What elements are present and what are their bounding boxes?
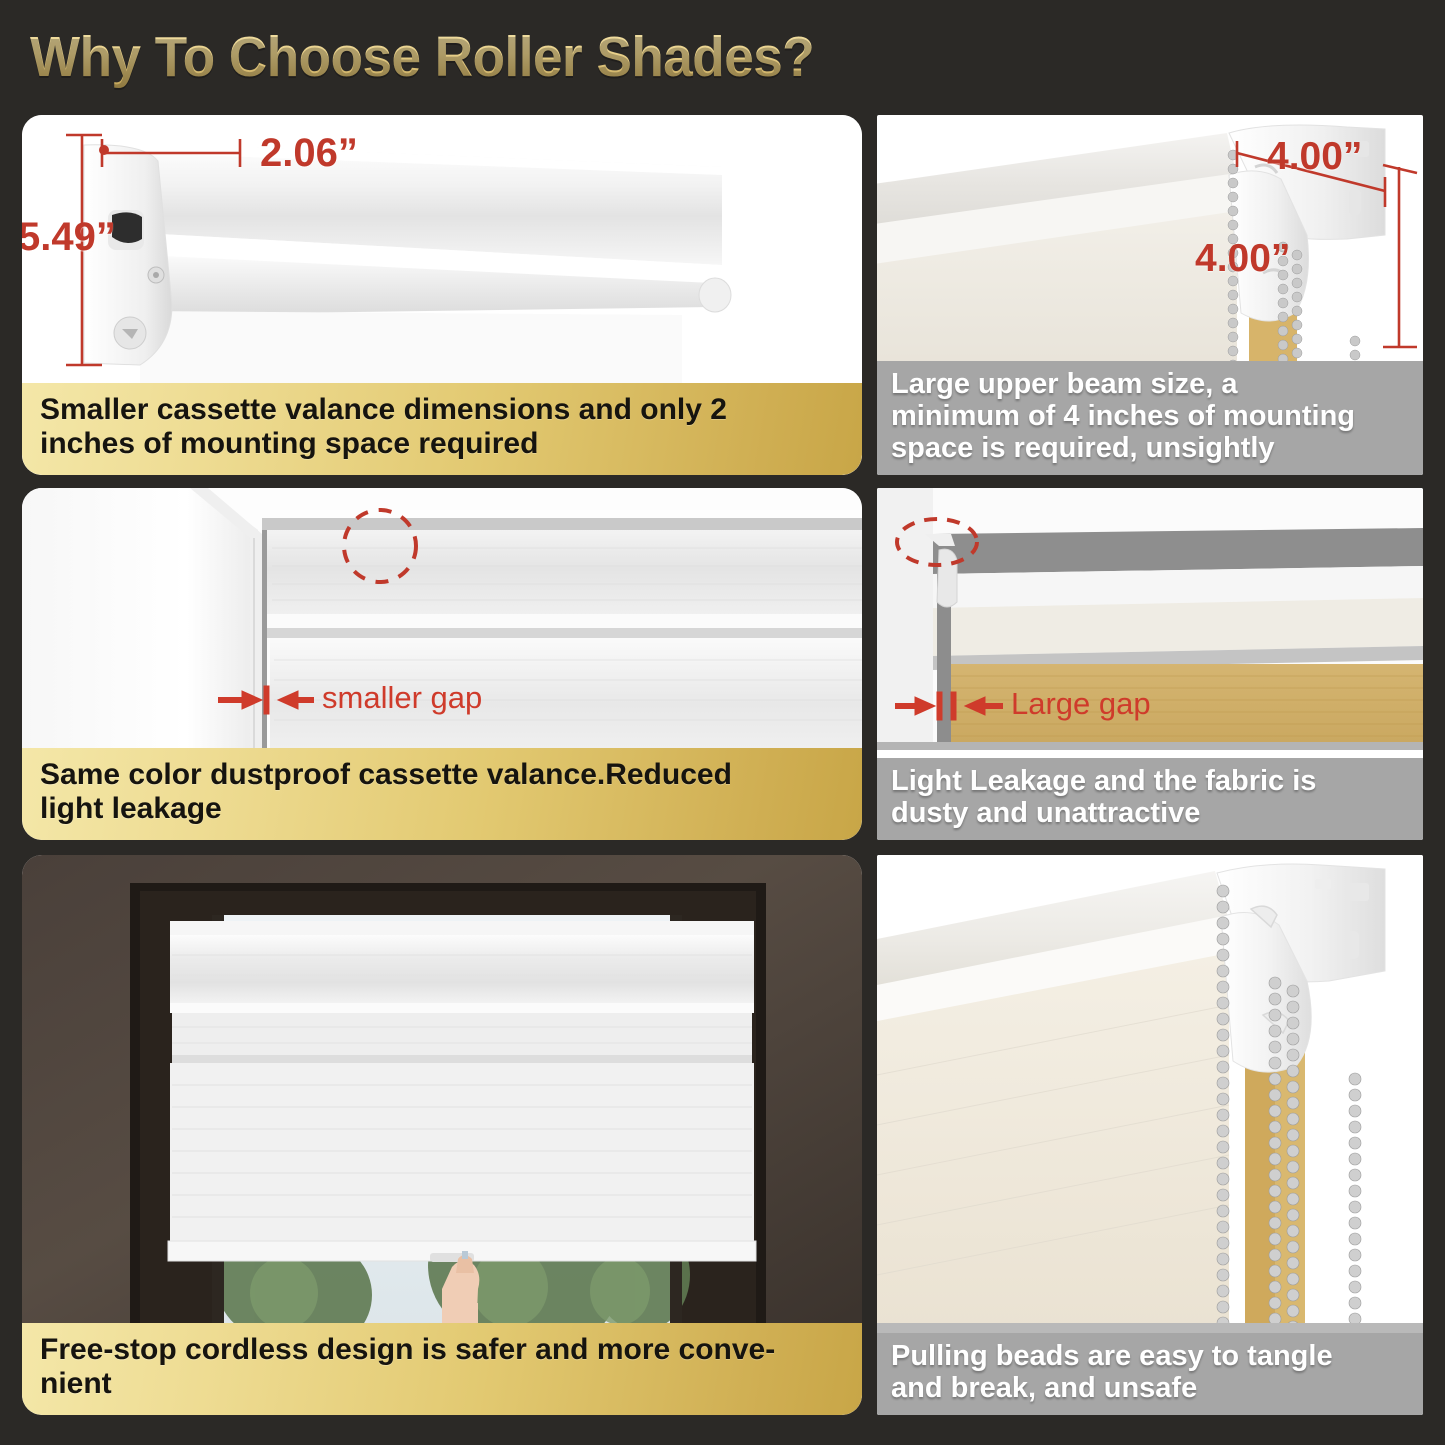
window-scene-illustration [22, 855, 862, 1333]
caption-line: Smaller cassette valance dimensions and … [40, 393, 727, 427]
panel-good-dustproof-valance: smaller gap Same color dustproof cassett… [22, 488, 862, 840]
dimension-label-width: 2.06” [260, 131, 358, 176]
caption-line: inches of mounting space required [40, 427, 727, 461]
caption-line: minimum of 4 inches of mounting [891, 401, 1355, 433]
page-title: Why To Choose Roller Shades? [30, 24, 814, 90]
gap-label-smaller: smaller gap [322, 680, 482, 716]
dimension-label-height: 5.49” [22, 215, 116, 260]
panel-bad-pull-beads: Pulling beads are easy to tangle and bre… [877, 855, 1423, 1415]
caption-bad-large-beam: Large upper beam size, a minimum of 4 in… [877, 361, 1423, 475]
product-photo-pull-beads [877, 855, 1423, 1415]
caption-line: and break, and unsafe [891, 1373, 1333, 1405]
caption-line: dusty and unattractive [891, 798, 1316, 830]
gap-label-large: Large gap [1011, 686, 1151, 722]
caption-good-dustproof-valance: Same color dustproof cassette valance.Re… [22, 748, 862, 840]
caption-line: nient [40, 1367, 775, 1401]
caption-line: space is required, unsightly [891, 433, 1355, 465]
dimension-label-width: 4.00” [1267, 135, 1362, 179]
panel-bad-large-beam: 4.00” 4.00” Large upper beam size, a min… [877, 115, 1423, 475]
caption-good-cassette-dimensions: Smaller cassette valance dimensions and … [22, 383, 862, 475]
caption-line: Free-stop cordless design is safer and m… [40, 1333, 775, 1367]
pull-bead-shade-illustration [877, 855, 1423, 1335]
caption-line: Same color dustproof cassette valance.Re… [40, 758, 732, 792]
caption-line: Light Leakage and the fabric is [891, 766, 1316, 798]
caption-bad-pull-beads: Pulling beads are easy to tangle and bre… [877, 1333, 1423, 1415]
caption-line: Pulling beads are easy to tangle [891, 1341, 1333, 1373]
caption-line: Large upper beam size, a [891, 369, 1355, 401]
panel-good-cordless-design: Free-stop cordless design is safer and m… [22, 855, 862, 1415]
panel-bad-light-leakage: Large gap Light Leakage and the fabric i… [877, 488, 1423, 840]
panel-good-cassette-dimensions: 2.06” 5.49” Smaller cassette valance dim… [22, 115, 862, 475]
caption-bad-light-leakage: Light Leakage and the fabric is dusty an… [877, 758, 1423, 840]
caption-line: light leakage [40, 792, 732, 826]
dimension-label-height: 4.00” [1195, 237, 1290, 281]
caption-good-cordless-design: Free-stop cordless design is safer and m… [22, 1323, 862, 1415]
